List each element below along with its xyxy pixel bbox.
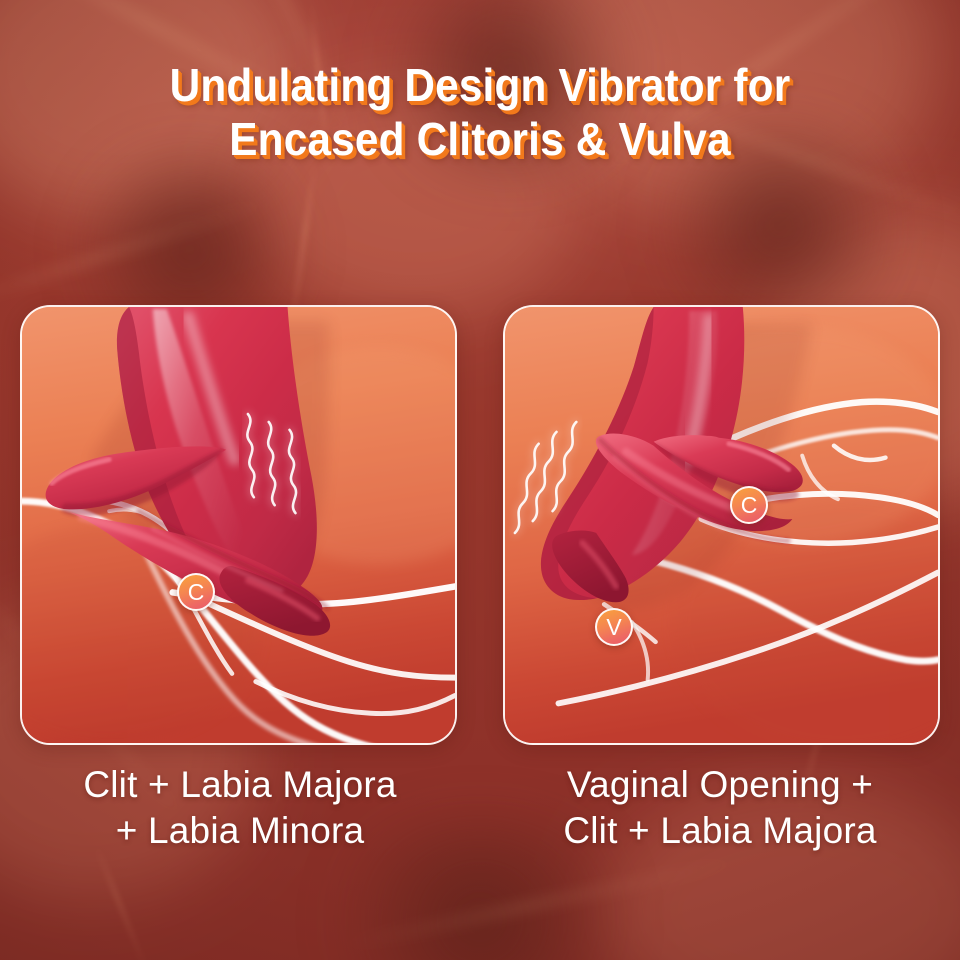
caption-right-line-1: Vaginal Opening + — [480, 762, 960, 808]
title-line-2: Encased Clitoris & Vulva — [38, 112, 921, 166]
badge-label: C — [188, 579, 205, 605]
badge-vaginal-opening: V — [595, 608, 633, 646]
caption-left-line-2: + Labia Minora — [0, 808, 480, 854]
panel-left-illustration — [22, 307, 455, 743]
page-title: Undulating Design Vibrator for Encased C… — [0, 58, 960, 166]
title-line-1: Undulating Design Vibrator for — [38, 58, 921, 112]
panel-right-illustration — [505, 307, 938, 743]
panel-left: C — [20, 305, 457, 745]
badge-label: C — [741, 492, 758, 518]
badge-label: V — [606, 614, 621, 640]
caption-right: Vaginal Opening + Clit + Labia Majora — [480, 762, 960, 882]
caption-right-line-2: Clit + Labia Majora — [480, 808, 960, 854]
illustration-panels: C — [20, 305, 940, 745]
panel-right: C V — [503, 305, 940, 745]
panel-left-artwork — [22, 307, 455, 743]
panel-captions: Clit + Labia Majora + Labia Minora Vagin… — [0, 762, 960, 882]
badge-clitoris-right: C — [730, 486, 768, 524]
caption-left: Clit + Labia Majora + Labia Minora — [0, 762, 480, 882]
badge-clitoris-left: C — [177, 573, 215, 611]
caption-left-line-1: Clit + Labia Majora — [0, 762, 480, 808]
panel-right-artwork — [505, 307, 938, 743]
